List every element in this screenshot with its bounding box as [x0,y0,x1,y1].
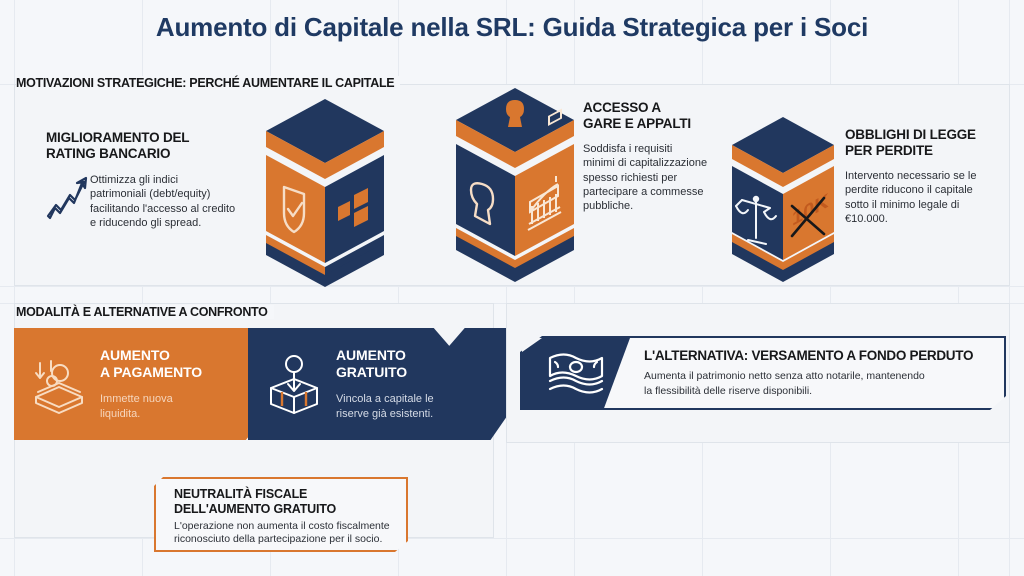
callout-neutralita-fiscale: NEUTRALITÀ FISCALE DELL'AUMENTO GRATUITO… [154,477,408,552]
block-pagamento-heading: AUMENTO A PAGAMENTO [100,347,202,380]
box-drop-in-icon [262,352,326,416]
alt-icon-container [522,338,630,408]
coins-stack-icon [28,353,90,415]
alternativa-body: Aumenta il patrimonio netto senza atto n… [644,369,973,397]
motivation-perdite-body: Intervento necessario se le perdite ridu… [845,169,1013,226]
banner-versamento-fondo-perduto[interactable]: L'ALTERNATIVA: VERSAMENTO A FONDO PERDUT… [520,336,1006,410]
banknote-icon [545,348,607,398]
page-title: Aumento di Capitale nella SRL: Guida Str… [0,12,1024,43]
motivation-appalti-body: Soddisfa i requisiti minimi di capitaliz… [583,142,743,213]
motivation-rating-heading: MIGLIORAMENTO DEL RATING BANCARIO [46,130,246,163]
alt-text-container: L'ALTERNATIVA: VERSAMENTO A FONDO PERDUT… [630,348,983,397]
block-gratuito-heading: AUMENTO GRATUITO [336,347,434,380]
block-pagamento-body: Immette nuova liquidita. [100,392,202,421]
trending-up-arrow-icon [46,174,88,220]
infographic-root: Aumento di Capitale nella SRL: Guida Str… [0,0,1024,576]
scales-10k-cube-icon: 10K [728,114,838,291]
motivation-card-rating: MIGLIORAMENTO DEL RATING BANCARIO Ottimi… [46,130,246,230]
motivation-appalti-heading: ACCESSO A GARE E APPALTI [583,100,743,133]
neutralita-heading: NEUTRALITÀ FISCALE DELL'AUMENTO GRATUITO [174,487,396,517]
block-aumento-gratuito[interactable]: AUMENTO GRATUITO Vincola a capitale le r… [248,328,506,440]
motivation-perdite-heading: OBBLIGHI DI LEGGE PER PERDITE [845,127,1013,160]
motivation-rating-body: Ottimizza gli indici patrimoniali (debt/… [90,173,246,230]
section-motivazioni-label: MOTIVAZIONI STRATEGICHE: PERCHÉ AUMENTAR… [16,76,400,90]
alternativa-heading: L'ALTERNATIVA: VERSAMENTO A FONDO PERDUT… [644,348,973,363]
shield-check-cube-icon [262,95,388,295]
keyhole-bank-cube-icon [452,84,578,294]
block-gratuito-body: Vincola a capitale le riserve già esiste… [336,392,434,421]
block-aumento-a-pagamento[interactable]: AUMENTO A PAGAMENTO Immette nuova liquid… [14,328,266,440]
motivation-card-appalti: ACCESSO A GARE E APPALTI Soddisfa i requ… [583,100,743,213]
motivation-card-perdite: OBBLIGHI DI LEGGE PER PERDITE Intervento… [845,127,1013,226]
section-modalita-label: MODALITÀ E ALTERNATIVE A CONFRONTO [16,305,274,319]
neutralita-body: L'operazione non aumenta il costo fiscal… [174,520,396,547]
